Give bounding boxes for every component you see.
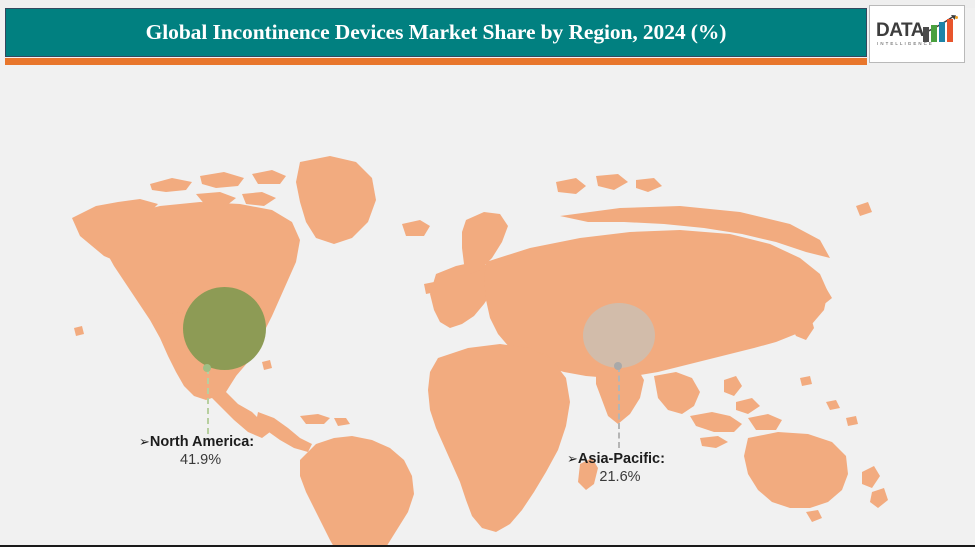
- logo-bar-chart-icon: [923, 18, 959, 42]
- connector-asia-pacific: [618, 366, 620, 448]
- callout-north-america-name: North America:: [150, 434, 254, 450]
- page-title: Global Incontinence Devices Market Share…: [146, 20, 727, 45]
- logo-accent-dot: [955, 16, 958, 19]
- bubble-north-america[interactable]: [183, 287, 266, 370]
- world-map-landmasses: [0, 66, 975, 545]
- logo-wordmark: DATA: [876, 20, 924, 42]
- logo-bar-4: [947, 19, 953, 42]
- brand-logo: DATA INTELLIGENCE: [869, 5, 965, 63]
- bullet-arrow-icon: ➢: [567, 451, 578, 466]
- title-accent-bar: [5, 58, 867, 65]
- connector-dot-north-america: [203, 364, 211, 372]
- callout-asia-pacific: ➢Asia-Pacific: 21.6%: [567, 450, 665, 487]
- callout-north-america-title: ➢North America:: [139, 433, 254, 451]
- callout-asia-pacific-title: ➢Asia-Pacific:: [567, 450, 665, 468]
- logo-bar-3: [939, 22, 945, 42]
- connector-dot-asia-pacific: [614, 362, 622, 370]
- logo-bar-2: [931, 25, 937, 42]
- top-margin-strip: [0, 0, 975, 8]
- callout-north-america: ➢North America: 41.9%: [139, 433, 254, 470]
- callout-asia-pacific-value: 21.6%: [567, 468, 665, 487]
- bullet-arrow-icon: ➢: [139, 434, 150, 449]
- callout-asia-pacific-name: Asia-Pacific:: [578, 451, 665, 467]
- world-map-canvas: ➢North America: 41.9% ➢Asia-Pacific: 21.…: [0, 66, 975, 545]
- infographic-slide: Global Incontinence Devices Market Share…: [0, 0, 975, 547]
- connector-north-america: [207, 368, 209, 434]
- logo-inner: DATA INTELLIGENCE: [874, 14, 960, 54]
- callout-north-america-value: 41.9%: [139, 451, 254, 470]
- title-banner: Global Incontinence Devices Market Share…: [5, 8, 867, 57]
- logo-bar-1: [923, 27, 929, 42]
- bubble-asia-pacific[interactable]: [583, 303, 655, 368]
